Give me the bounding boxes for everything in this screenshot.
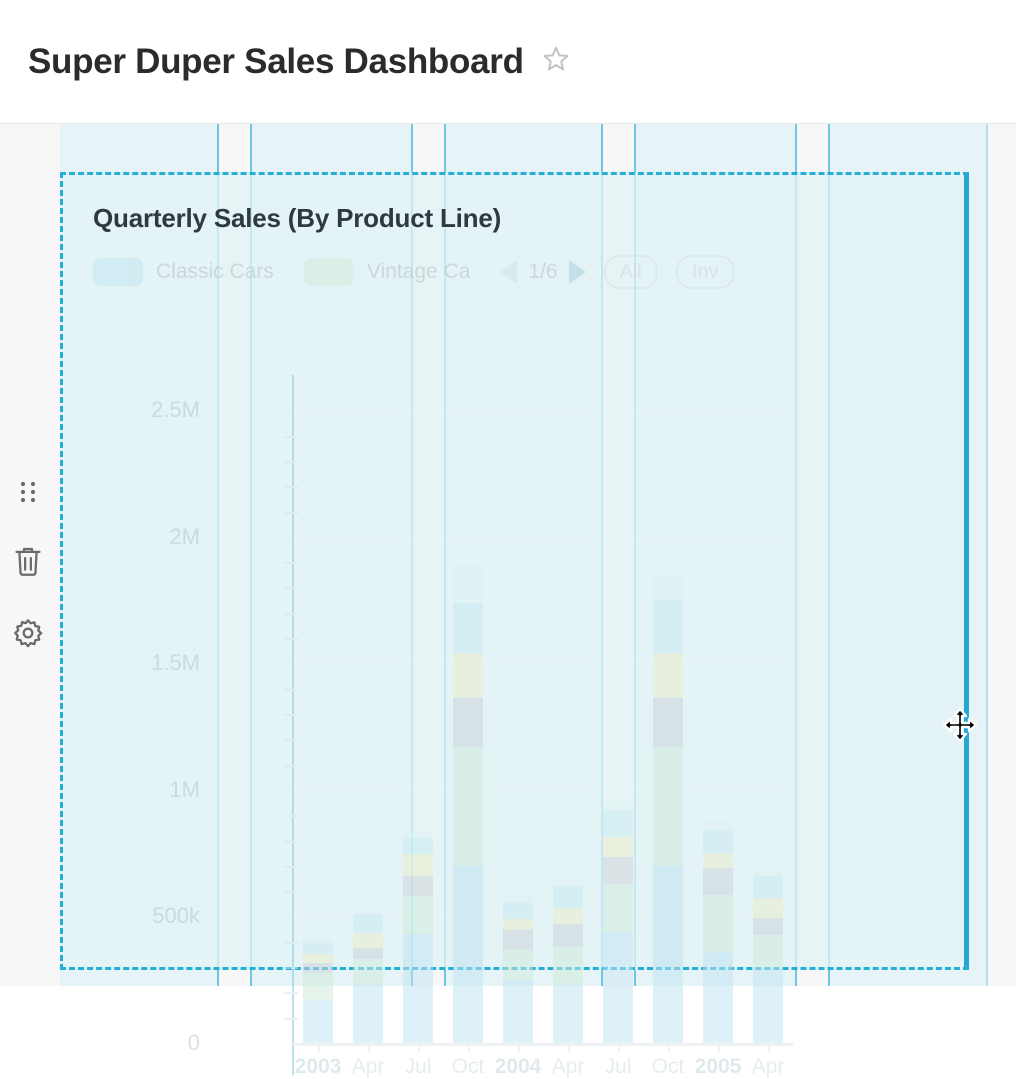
legend-label: Classic Cars <box>156 260 274 284</box>
y-axis-minor-tick <box>284 714 298 716</box>
chart-bar[interactable] <box>753 866 783 1043</box>
y-axis-minor-tick <box>284 992 298 994</box>
chart-plot-area: 0500k1M1.5M2M2.5M 2003AprJulOct2004AprJu… <box>208 375 808 1075</box>
pager-count: 1/6 <box>528 260 557 284</box>
bar-segment <box>453 603 483 654</box>
x-axis-tick <box>768 1046 770 1053</box>
chart-bar[interactable] <box>453 565 483 1043</box>
y-axis-tick-label: 2.5M <box>80 397 200 423</box>
y-axis-minor-tick <box>284 866 298 868</box>
bar-segment <box>353 906 383 914</box>
bar-segment <box>753 935 783 968</box>
bar-segment <box>353 959 383 983</box>
bar-segment <box>603 810 633 837</box>
chart-bar[interactable] <box>603 801 633 1043</box>
bar-segment <box>503 980 533 1043</box>
triangle-left-icon[interactable] <box>500 260 517 284</box>
dashboard-canvas[interactable]: Quarterly Sales (By Product Line) Classi… <box>0 124 1016 986</box>
x-axis-tick <box>468 1046 470 1053</box>
legend-swatch-icon <box>93 258 143 286</box>
y-axis-minor-tick <box>284 512 298 514</box>
bar-segment <box>553 886 583 908</box>
page-title: Super Duper Sales Dashboard <box>28 42 524 82</box>
bar-segment <box>703 868 733 895</box>
chart-bar[interactable] <box>303 939 333 1043</box>
y-axis-minor-tick <box>284 562 298 564</box>
bar-segment <box>553 985 583 1043</box>
y-axis-minor-tick <box>284 891 298 893</box>
bar-segment <box>303 1000 333 1043</box>
gridline <box>293 537 793 538</box>
x-axis-tick <box>318 1046 320 1053</box>
chart-bar[interactable] <box>403 832 433 1043</box>
y-axis-tick-label: 0 <box>80 1030 200 1056</box>
bar-segment <box>553 908 583 924</box>
y-axis-tick-label: 1.5M <box>80 650 200 676</box>
bar-segment <box>453 698 483 747</box>
y-axis-line <box>292 375 294 1075</box>
x-axis-tick-label: Oct <box>452 1055 485 1079</box>
x-axis-tick-label: Jul <box>405 1055 432 1079</box>
bar-segment <box>603 801 633 810</box>
bar-segment <box>403 934 433 1043</box>
x-axis-tick <box>618 1046 620 1053</box>
x-axis-tick-label: 2005 <box>695 1055 742 1079</box>
bar-segment <box>403 854 433 876</box>
legend-swatch-icon <box>304 258 354 286</box>
bar-segment <box>403 838 433 854</box>
y-axis-minor-tick <box>284 1018 298 1020</box>
x-axis-tick <box>568 1046 570 1053</box>
bar-segment <box>403 896 433 934</box>
gear-icon[interactable] <box>12 617 44 649</box>
y-axis-minor-tick <box>284 942 298 944</box>
bar-segment <box>603 837 633 857</box>
x-axis-tick <box>518 1046 520 1053</box>
x-axis-tick-label: Apr <box>552 1055 585 1079</box>
bar-segment <box>703 952 733 1043</box>
bar-segment <box>653 575 683 600</box>
x-axis-tick <box>668 1046 670 1053</box>
y-axis-minor-tick <box>284 689 298 691</box>
bar-segment <box>353 914 383 933</box>
chart-bar[interactable] <box>703 820 733 1043</box>
bar-segment <box>403 876 433 896</box>
x-axis-tick-label: Oct <box>652 1055 685 1079</box>
y-axis-minor-tick <box>284 841 298 843</box>
bar-segment <box>453 565 483 603</box>
y-axis-minor-tick <box>284 638 298 640</box>
widget-tool-rail <box>4 479 52 649</box>
y-axis-minor-tick <box>284 967 298 969</box>
bar-segment <box>503 919 533 930</box>
select-all-button[interactable]: All <box>604 255 658 289</box>
bar-segment <box>503 930 533 949</box>
invert-selection-button[interactable]: Inv <box>676 255 735 289</box>
bar-segment <box>453 866 483 1043</box>
x-axis-tick <box>418 1046 420 1053</box>
chart-legend-row: Classic Cars Vintage Ca 1/6 All Inv <box>93 256 966 288</box>
bar-segment <box>753 866 783 876</box>
bar-segment <box>603 857 633 884</box>
bar-segment <box>603 884 633 932</box>
bar-segment <box>503 949 533 979</box>
trash-icon[interactable] <box>13 545 43 577</box>
x-axis-tick-label: Apr <box>752 1055 785 1079</box>
bar-segment <box>303 943 333 954</box>
dashboard-header: Super Duper Sales Dashboard <box>0 0 1016 124</box>
bar-segment <box>453 747 483 866</box>
chart-bar[interactable] <box>553 880 583 1043</box>
y-axis-tick-label: 2M <box>80 524 200 550</box>
bar-segment <box>303 973 333 1000</box>
y-axis-minor-tick <box>284 587 298 589</box>
bar-segment <box>303 954 333 963</box>
bar-segment <box>753 876 783 898</box>
y-axis-minor-tick <box>284 765 298 767</box>
star-outline-icon[interactable] <box>541 44 571 79</box>
y-axis-minor-tick <box>284 436 298 438</box>
y-axis-minor-tick <box>284 461 298 463</box>
legend-item-classic-cars[interactable]: Classic Cars <box>93 258 274 286</box>
bar-segment <box>503 895 533 903</box>
x-axis-tick-label: 2003 <box>295 1055 342 1079</box>
bar-segment <box>703 895 733 952</box>
bar-segment <box>703 830 733 853</box>
legend-pager: 1/6 <box>500 260 585 284</box>
gridline <box>293 410 793 411</box>
bar-segment <box>553 947 583 985</box>
y-axis-tick-label: 500k <box>80 903 200 929</box>
bar-segment <box>753 898 783 918</box>
bar-segment <box>353 984 383 1043</box>
x-axis-tick-label: 2004 <box>495 1055 542 1079</box>
x-axis-tick-label: Jul <box>605 1055 632 1079</box>
bar-segment <box>653 653 683 697</box>
y-axis-minor-tick <box>284 815 298 817</box>
legend-label: Vintage Ca <box>367 260 471 284</box>
legend-item-vintage-cars[interactable]: Vintage Ca <box>304 258 471 286</box>
bar-segment <box>753 918 783 936</box>
bar-segment <box>653 866 683 1043</box>
chart-bar[interactable] <box>653 575 683 1043</box>
y-axis-minor-tick <box>284 613 298 615</box>
x-axis-tick-label: Apr <box>352 1055 385 1079</box>
triangle-right-icon[interactable] <box>569 260 586 284</box>
bar-segment <box>653 698 683 747</box>
x-axis-tick <box>718 1046 720 1053</box>
bar-segment <box>703 853 733 868</box>
chart-bar[interactable] <box>353 906 383 1043</box>
chart-title: Quarterly Sales (By Product Line) <box>93 203 966 234</box>
chart-bar[interactable] <box>503 895 533 1043</box>
x-axis-tick <box>368 1046 370 1053</box>
y-axis-minor-tick <box>284 486 298 488</box>
grid-guide-line <box>986 124 988 986</box>
gridline <box>293 790 793 791</box>
bar-segment <box>353 948 383 959</box>
bar-segment <box>303 963 333 973</box>
chart-panel: Quarterly Sales (By Product Line) Classi… <box>63 175 966 967</box>
bar-segment <box>653 600 683 653</box>
bar-segment <box>603 932 633 1043</box>
bar-segment <box>453 653 483 697</box>
y-axis-tick-label: 1M <box>80 777 200 803</box>
chart-widget[interactable]: Quarterly Sales (By Product Line) Classi… <box>60 172 969 970</box>
y-axis-minor-tick <box>284 739 298 741</box>
bar-segment <box>753 968 783 1043</box>
bar-segment <box>703 820 733 830</box>
bar-segment <box>653 747 683 866</box>
bar-segment <box>353 933 383 948</box>
bar-segment <box>503 903 533 919</box>
bar-segment <box>553 924 583 947</box>
gridline <box>293 663 793 664</box>
drag-handle-icon[interactable] <box>15 479 41 505</box>
